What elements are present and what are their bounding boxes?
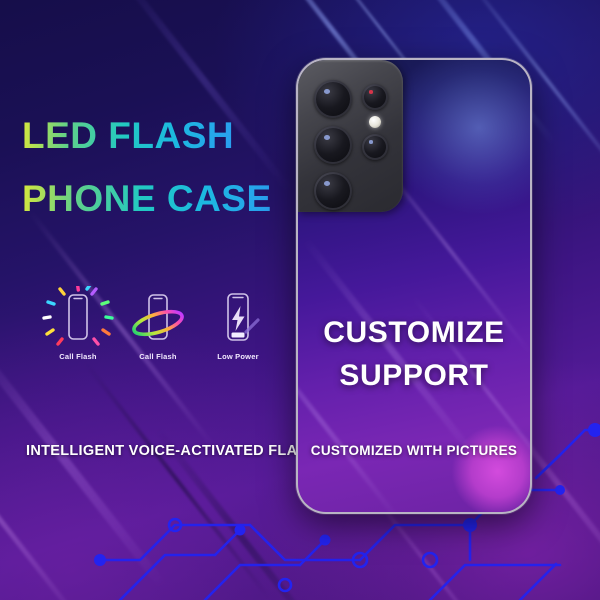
feature-list: Call Flash bbox=[42, 286, 274, 374]
camera-lens-main bbox=[314, 80, 352, 118]
feature-label: Low Power bbox=[217, 352, 258, 361]
phone-lightning-battery-icon bbox=[202, 286, 274, 348]
page-title-line-2: PHONE CASE bbox=[22, 180, 272, 217]
led-flash-icon bbox=[369, 116, 381, 128]
phone-confetti-burst-icon bbox=[42, 286, 114, 348]
camera-lens-macro bbox=[362, 134, 388, 160]
feature-label: Call Flash bbox=[139, 352, 176, 361]
phone-case-surface: CUSTOMIZE SUPPORT CUSTOMIZED WITH PICTUR… bbox=[298, 60, 530, 512]
case-caption: CUSTOMIZED WITH PICTURES bbox=[298, 443, 530, 458]
feature-item-call-flash-confetti: Call Flash bbox=[42, 286, 114, 361]
case-headline-line-1: CUSTOMIZE bbox=[298, 312, 530, 355]
phone-orbit-ring-icon bbox=[122, 286, 194, 348]
tagline: INTELLIGENT VOICE-ACTIVATED FLASH bbox=[26, 443, 318, 459]
feature-label: Call Flash bbox=[59, 352, 96, 361]
camera-module bbox=[298, 60, 403, 212]
feature-item-call-flash-orbit: Call Flash bbox=[122, 286, 194, 361]
case-headline: CUSTOMIZE SUPPORT bbox=[298, 312, 530, 397]
feature-item-low-power: Low Power bbox=[202, 286, 274, 361]
camera-lens-depth bbox=[362, 84, 388, 110]
camera-lens-wide bbox=[314, 126, 352, 164]
camera-lens-telephoto bbox=[314, 172, 352, 210]
phone-product-image: CUSTOMIZE SUPPORT CUSTOMIZED WITH PICTUR… bbox=[296, 58, 532, 514]
poster-canvas: LED FLASH PHONE CASE bbox=[0, 0, 600, 600]
page-title-line-1: LED FLASH bbox=[22, 117, 234, 154]
case-headline-line-2: SUPPORT bbox=[298, 355, 530, 398]
